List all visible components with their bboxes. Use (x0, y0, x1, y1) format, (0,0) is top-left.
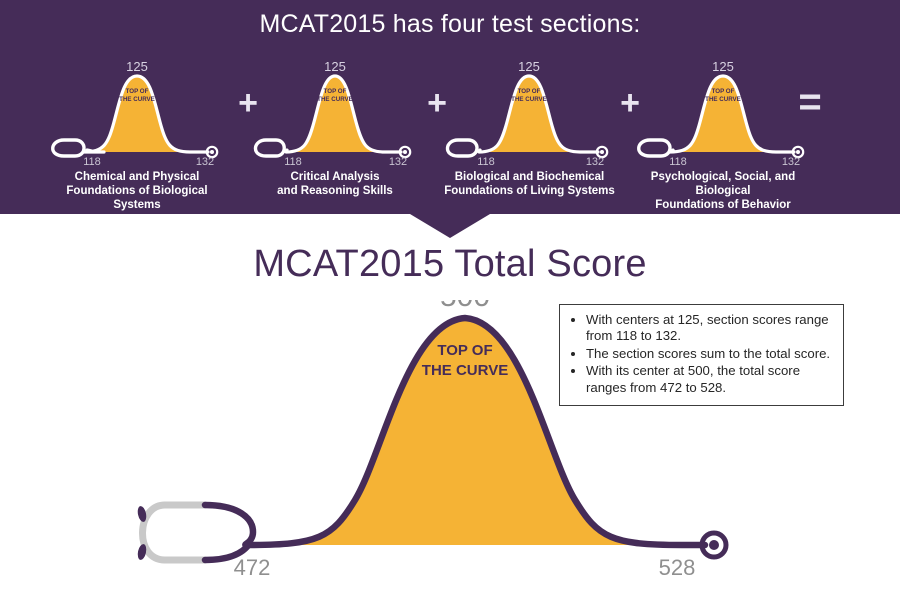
section-max-value: 132 (782, 156, 800, 168)
section-block-biological-biochemical: 125 TOP OF THE CURVE 118 132 Biological … (437, 60, 622, 210)
note-item: With centers at 125, section scores rang… (586, 312, 833, 345)
header-arrow-down-icon (410, 214, 490, 238)
section-peak-caption-line1: TOP OF (712, 88, 735, 95)
section-peak-caption-line2: THE CURVE (317, 96, 353, 103)
notes-list: With centers at 125, section scores rang… (564, 312, 833, 396)
section-label-chemical-physical: Chemical and Physical Foundations of Bio… (42, 170, 232, 212)
header-title: MCAT2015 has four test sections: (0, 10, 900, 39)
main-peak-caption-line2: THE CURVE (422, 362, 508, 379)
section-peak-caption-line2: THE CURVE (511, 96, 547, 103)
section-peak-caption-line1: TOP OF (324, 88, 347, 95)
section-max-value: 132 (586, 156, 604, 168)
section-max-value: 132 (389, 156, 407, 168)
section-label-line1: Chemical and Physical (42, 170, 232, 184)
section-curve-critical-analysis: 125 TOP OF THE CURVE 118 132 (246, 60, 424, 170)
note-item: With its center at 500, the total score … (586, 363, 833, 396)
section-label-psychological-social: Psychological, Social, and Biological Fo… (628, 170, 818, 212)
section-peak-value: 125 (324, 60, 346, 74)
main-peak-caption-line1: TOP OF (437, 342, 492, 359)
section-min-value: 118 (477, 156, 495, 168)
section-peak-value: 125 (126, 60, 148, 74)
notes-box: With centers at 125, section scores rang… (559, 304, 844, 406)
section-peak-caption-line2: THE CURVE (705, 96, 741, 103)
stethoscope-earpiece-icon (53, 140, 84, 156)
section-peak-caption-line1: TOP OF (126, 88, 149, 95)
section-block-critical-analysis: 125 TOP OF THE CURVE 118 132 Critical An… (246, 60, 424, 210)
section-peak-value: 125 (712, 60, 734, 74)
section-label-line2: and Reasoning Skills (246, 184, 424, 198)
section-label-line1: Biological and Biochemical (437, 170, 622, 184)
note-item: The section scores sum to the total scor… (586, 346, 833, 362)
stethoscope-earpiece-icon (447, 140, 477, 156)
section-label-line1: Psychological, Social, and Biological (628, 170, 818, 198)
section-curve-biological-biochemical: 125 TOP OF THE CURVE 118 132 (437, 60, 622, 170)
section-label-critical-analysis: Critical Analysis and Reasoning Skills (246, 170, 424, 198)
section-label-biological-biochemical: Biological and Biochemical Foundations o… (437, 170, 622, 198)
operator-equals: = (790, 82, 830, 122)
section-min-value: 118 (284, 156, 302, 168)
section-label-line1: Critical Analysis (246, 170, 424, 184)
section-label-line2: Foundations of Living Systems (437, 184, 622, 198)
section-peak-caption-line2: THE CURVE (119, 96, 155, 103)
section-peak-value: 125 (518, 60, 540, 74)
section-min-value: 118 (669, 156, 687, 168)
stethoscope-earpiece-icon (639, 140, 670, 156)
stethoscope-earpiece-icon (255, 140, 284, 156)
main-min-value: 472 (234, 555, 271, 580)
section-peak-caption-line1: TOP OF (518, 88, 541, 95)
section-max-value: 132 (196, 156, 214, 168)
main-title: MCAT2015 Total Score (0, 243, 900, 286)
main-peak-value: 500 (440, 300, 490, 313)
infographic-canvas: MCAT2015 has four test sections: 125 TOP… (0, 0, 900, 600)
section-block-chemical-physical: 125 TOP OF THE CURVE 118 132 Chemical an… (42, 60, 232, 210)
section-curve-chemical-physical: 125 TOP OF THE CURVE 118 132 (42, 60, 232, 170)
section-min-value: 118 (83, 156, 101, 168)
main-max-value: 528 (659, 555, 696, 580)
section-label-line2: Foundations of Behavior (628, 198, 818, 212)
section-label-line2: Foundations of Biological Systems (42, 184, 232, 212)
